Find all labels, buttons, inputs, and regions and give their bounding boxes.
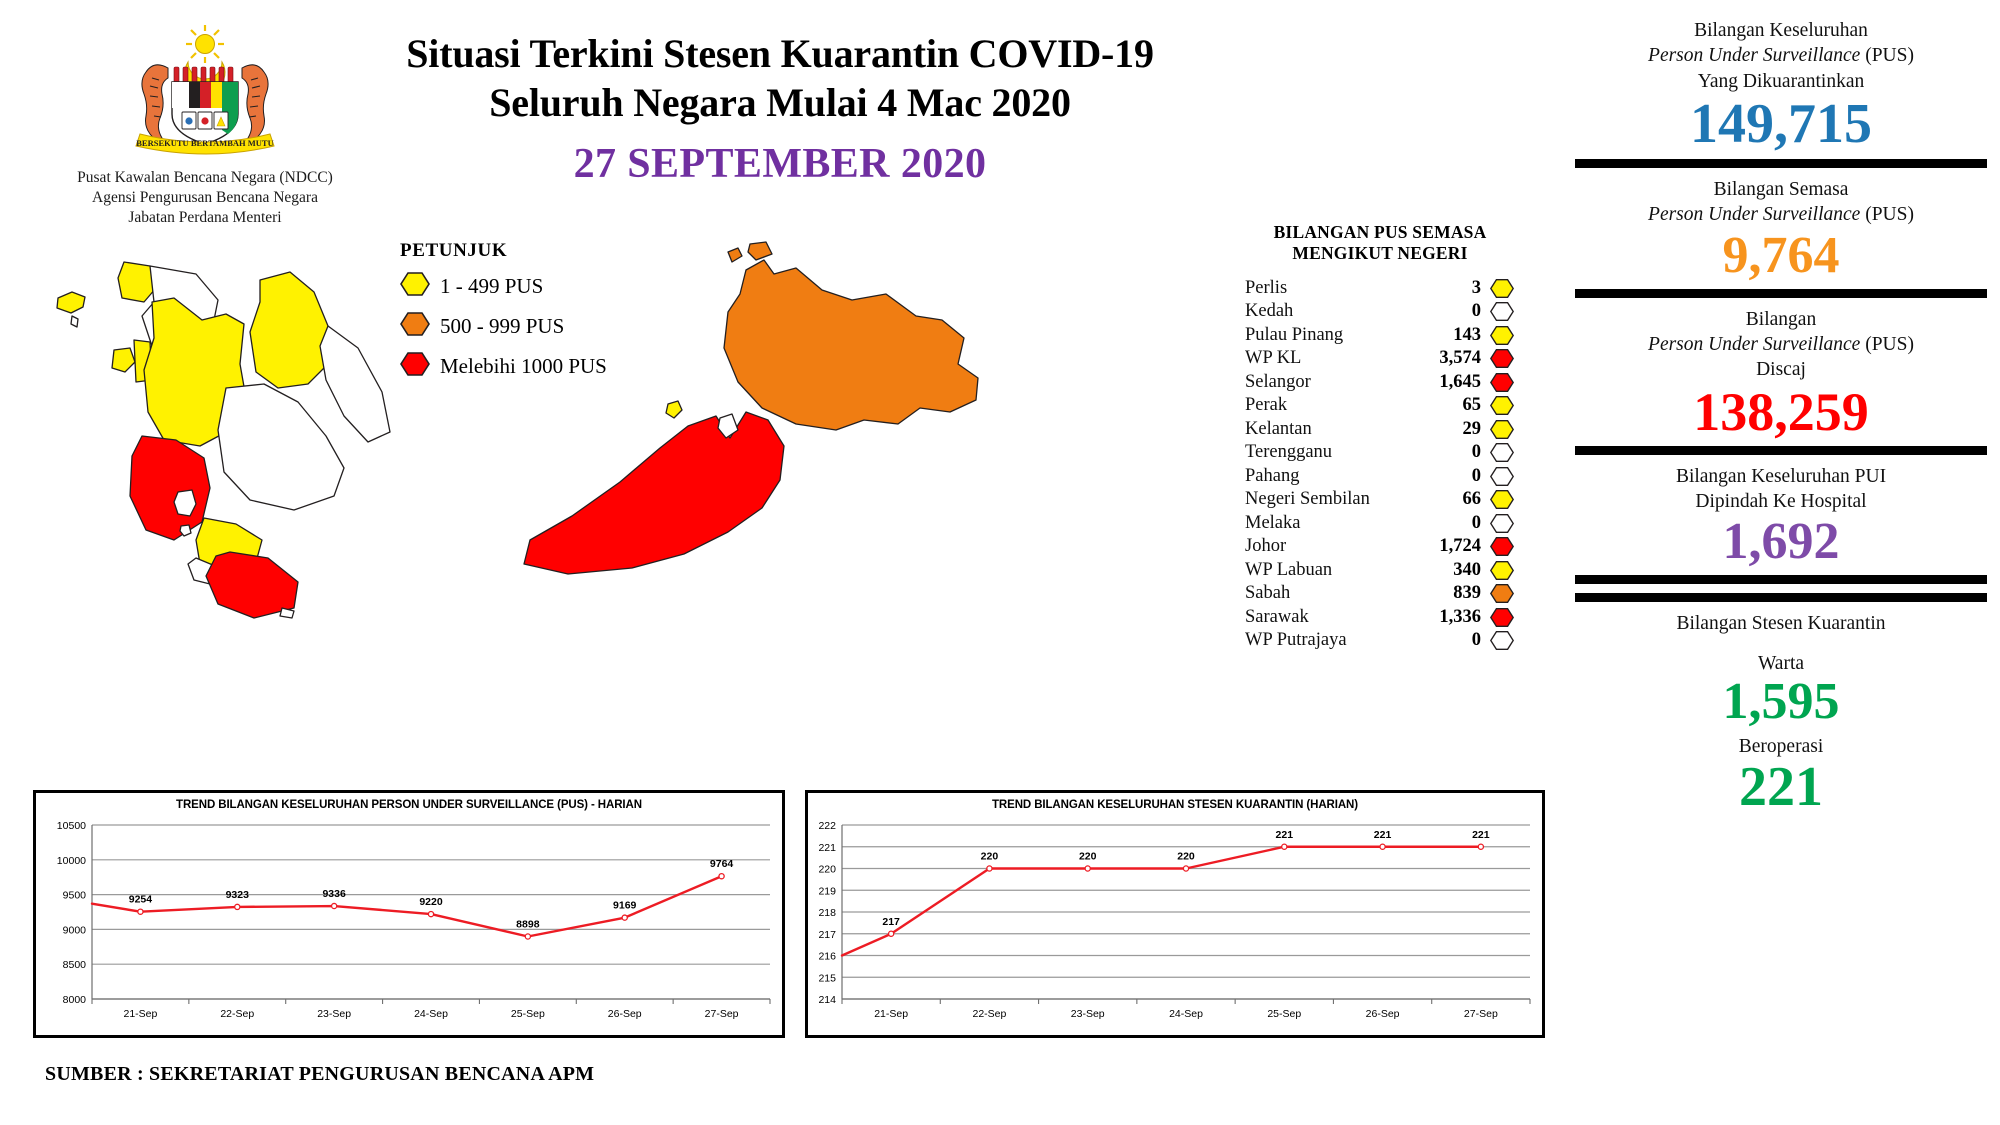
state-name: Negeri Sembilan — [1245, 489, 1415, 510]
agency-logo-block: BERSEKUTU BERTAMBAH MUTU Pusat Kawalan B… — [55, 22, 355, 227]
legend-label-low: 1 - 499 PUS — [440, 274, 543, 299]
state-name: Selangor — [1245, 372, 1415, 393]
map-region-sarawak — [524, 412, 784, 574]
data-point-label: 9336 — [322, 888, 346, 900]
state-row: Negeri Sembilan66 — [1245, 488, 1515, 512]
state-value: 0 — [1415, 466, 1489, 487]
y-axis-tick-label: 215 — [818, 972, 836, 984]
stat-label-line1: Bilangan Keseluruhan PUI — [1575, 464, 1987, 489]
chart-left-title: TREND BILANGAN KESELURUHAN PERSON UNDER … — [36, 793, 782, 811]
data-point-marker — [622, 915, 627, 920]
chart-pus-harian: TREND BILANGAN KESELURUHAN PERSON UNDER … — [33, 790, 785, 1038]
state-value: 1,724 — [1415, 536, 1489, 557]
legend-label-high: Melebihi 1000 PUS — [440, 354, 607, 379]
data-point-marker — [1085, 866, 1090, 871]
y-axis-tick-label: 220 — [818, 864, 836, 876]
infographic-page: BERSEKUTU BERTAMBAH MUTU Pusat Kawalan B… — [0, 0, 2000, 1125]
stat-label-line1: Bilangan Semasa — [1575, 177, 1987, 202]
state-value: 3 — [1415, 278, 1489, 299]
summary-stats-panel: Bilangan KeseluruhanPerson Under Surveil… — [1575, 18, 1987, 815]
state-row: Kedah0 — [1245, 300, 1515, 324]
data-point-marker — [719, 874, 724, 879]
map-region-sabah-island-2 — [748, 242, 772, 260]
x-axis-tick-label: 22-Sep — [972, 1008, 1006, 1020]
page-title: Situasi Terkini Stesen Kuarantin COVID-1… — [330, 30, 1230, 188]
state-value: 0 — [1415, 301, 1489, 322]
data-point-marker — [428, 911, 433, 916]
state-value: 3,574 — [1415, 348, 1489, 369]
chart-right-title: TREND BILANGAN KESELURUHAN STESEN KUARAN… — [808, 793, 1542, 811]
state-name: Johor — [1245, 536, 1415, 557]
x-axis-tick-label: 24-Sep — [414, 1008, 448, 1020]
state-value: 0 — [1415, 442, 1489, 463]
x-axis-tick-label: 27-Sep — [705, 1008, 739, 1020]
stations-title: Bilangan Stesen Kuarantin — [1575, 611, 1987, 636]
hexagon-icon-status — [1489, 630, 1515, 651]
title-line-1: Situasi Terkini Stesen Kuarantin COVID-1… — [330, 30, 1230, 79]
x-axis-tick-label: 24-Sep — [1169, 1008, 1203, 1020]
map-region-terengganu — [320, 326, 390, 442]
state-row: Johor1,724 — [1245, 535, 1515, 559]
svg-text:BERSEKUTU BERTAMBAH MUTU: BERSEKUTU BERTAMBAH MUTU — [136, 138, 273, 148]
map-region-langkawi — [57, 292, 85, 313]
state-name: WP KL — [1245, 348, 1415, 369]
map-region-sabah — [724, 260, 978, 430]
x-axis-tick-label: 25-Sep — [1267, 1008, 1301, 1020]
hexagon-icon-status — [1489, 466, 1515, 487]
state-name: Kedah — [1245, 301, 1415, 322]
legend-title: PETUNJUK — [400, 240, 700, 262]
state-value: 0 — [1415, 630, 1489, 651]
state-row: WP Labuan340 — [1245, 559, 1515, 583]
malaysia-coat-of-arms-icon: BERSEKUTU BERTAMBAH MUTU — [110, 22, 300, 162]
hexagon-icon-status — [1489, 560, 1515, 581]
y-axis-tick-label: 10500 — [57, 820, 86, 832]
y-axis-tick-label: 218 — [818, 907, 836, 919]
legend-item-high: Melebihi 1000 PUS — [400, 351, 700, 382]
hexagon-icon-status — [1489, 348, 1515, 369]
hexagon-icon-status — [1489, 301, 1515, 322]
stat-value: 1,692 — [1575, 516, 1987, 568]
agency-caption-line1: Pusat Kawalan Bencana Negara (NDCC) — [55, 168, 355, 188]
map-legend: PETUNJUK 1 - 499 PUS 500 - 999 PUS Meleb… — [400, 240, 700, 391]
state-name: Perlis — [1245, 278, 1415, 299]
map-region-pahang — [218, 384, 344, 510]
state-value: 0 — [1415, 513, 1489, 534]
stat-divider — [1575, 159, 1987, 168]
agency-caption: Pusat Kawalan Bencana Negara (NDCC) Agen… — [55, 168, 355, 227]
state-name: Melaka — [1245, 513, 1415, 534]
state-value: 66 — [1415, 489, 1489, 510]
y-axis-tick-label: 10000 — [57, 855, 86, 867]
hexagon-icon-status — [1489, 395, 1515, 416]
chart-stesen-harian: TREND BILANGAN KESELURUHAN STESEN KUARAN… — [805, 790, 1545, 1038]
stat-block: Bilangan Keseluruhan PUIDipindah Ke Hosp… — [1575, 464, 1987, 569]
series-line — [842, 847, 1481, 956]
state-value: 340 — [1415, 560, 1489, 581]
hexagon-icon-status — [1489, 489, 1515, 510]
y-axis-tick-label: 222 — [818, 820, 836, 832]
legend-label-mid: 500 - 999 PUS — [440, 314, 564, 339]
hexagon-icon-yellow — [400, 271, 430, 302]
hexagon-icon-red — [400, 351, 430, 382]
x-axis-tick-label: 26-Sep — [1366, 1008, 1400, 1020]
stat-stations: Bilangan Stesen Kuarantin Warta 1,595 Be… — [1575, 611, 1987, 815]
data-point-label: 220 — [1177, 851, 1195, 863]
data-point-label: 221 — [1276, 829, 1294, 841]
data-point-label: 9220 — [419, 896, 443, 908]
data-point-marker — [525, 934, 530, 939]
data-point-label: 9169 — [613, 900, 637, 912]
x-axis-tick-label: 27-Sep — [1464, 1008, 1498, 1020]
data-point-marker — [1183, 866, 1188, 871]
hexagon-icon-status — [1489, 583, 1515, 604]
state-row: WP Putrajaya0 — [1245, 629, 1515, 653]
y-axis-tick-label: 8500 — [63, 959, 87, 971]
state-breakdown-panel: BILANGAN PUS SEMASA MENGIKUT NEGERI Perl… — [1245, 222, 1515, 653]
state-row: Pulau Pinang143 — [1245, 324, 1515, 348]
stat-label: Bilangan SemasaPerson Under Surveillance… — [1575, 177, 1987, 228]
hexagon-icon-status — [1489, 325, 1515, 346]
hexagon-icon-status — [1489, 513, 1515, 534]
stat-divider — [1575, 593, 1987, 602]
title-line-2: Seluruh Negara Mulai 4 Mac 2020 — [330, 79, 1230, 128]
hexagon-icon-status — [1489, 372, 1515, 393]
state-row: Pahang0 — [1245, 465, 1515, 489]
state-name: Sarawak — [1245, 607, 1415, 628]
state-value: 29 — [1415, 419, 1489, 440]
state-row: Terengganu0 — [1245, 441, 1515, 465]
y-axis-tick-label: 217 — [818, 929, 836, 941]
data-point-label: 9254 — [129, 894, 153, 906]
x-axis-tick-label: 21-Sep — [123, 1008, 157, 1020]
state-table: Perlis3Kedah0Pulau Pinang143WP KL3,574Se… — [1245, 277, 1515, 653]
stat-label-line2: Person Under Surveillance (PUS) — [1575, 332, 1987, 357]
data-point-marker — [1282, 844, 1287, 849]
state-name: Perak — [1245, 395, 1415, 416]
hexagon-icon-status — [1489, 419, 1515, 440]
stat-label-line1: Bilangan — [1575, 307, 1987, 332]
state-value: 1,645 — [1415, 372, 1489, 393]
agency-caption-line2: Agensi Pengurusan Bencana Negara — [55, 188, 355, 208]
data-point-label: 221 — [1472, 829, 1490, 841]
stat-value: 9,764 — [1575, 230, 1987, 282]
state-panel-title: BILANGAN PUS SEMASA MENGIKUT NEGERI — [1245, 222, 1515, 265]
data-point-label: 220 — [1079, 851, 1097, 863]
state-name: Pahang — [1245, 466, 1415, 487]
state-panel-title-line1: BILANGAN PUS SEMASA — [1245, 222, 1515, 243]
data-point-label: 217 — [882, 916, 900, 928]
state-name: Terengganu — [1245, 442, 1415, 463]
data-point-marker — [889, 931, 894, 936]
stat-label: Bilangan KeseluruhanPerson Under Surveil… — [1575, 18, 1987, 94]
data-point-marker — [332, 903, 337, 908]
state-value: 1,336 — [1415, 607, 1489, 628]
map-region-penang-island — [112, 348, 135, 372]
map-region-sabah-island-1 — [728, 248, 742, 262]
agency-caption-line3: Jabatan Perdana Menteri — [55, 208, 355, 228]
report-date: 27 SEPTEMBER 2020 — [330, 140, 1230, 188]
state-row: Sabah839 — [1245, 582, 1515, 606]
data-point-label: 8898 — [516, 918, 540, 930]
y-axis-tick-label: 9000 — [63, 924, 87, 936]
y-axis-tick-label: 221 — [818, 842, 836, 854]
state-row: Perak65 — [1245, 394, 1515, 418]
source-footer: SUMBER : SEKRETARIAT PENGURUSAN BENCANA … — [45, 1063, 594, 1086]
map-region-kelantan — [250, 272, 328, 388]
x-axis-tick-label: 23-Sep — [1071, 1008, 1105, 1020]
hexagon-icon-orange — [400, 311, 430, 342]
data-point-label: 9764 — [710, 858, 734, 870]
stat-value: 138,259 — [1575, 385, 1987, 439]
state-row: Kelantan29 — [1245, 418, 1515, 442]
data-point-label: 221 — [1374, 829, 1392, 841]
y-axis-tick-label: 216 — [818, 951, 836, 963]
stat-label-line2: Person Under Surveillance (PUS) — [1575, 43, 1987, 68]
stat-label: BilanganPerson Under Surveillance (PUS)D… — [1575, 307, 1987, 383]
state-row: WP KL3,574 — [1245, 347, 1515, 371]
stat-label-line1: Bilangan Keseluruhan — [1575, 18, 1987, 43]
data-point-label: 9323 — [226, 889, 250, 901]
hexagon-icon-status — [1489, 278, 1515, 299]
stat-block: Bilangan KeseluruhanPerson Under Surveil… — [1575, 18, 1987, 152]
state-name: WP Putrajaya — [1245, 630, 1415, 651]
stat-label-line2: Person Under Surveillance (PUS) — [1575, 202, 1987, 227]
x-axis-tick-label: 22-Sep — [220, 1008, 254, 1020]
x-axis-tick-label: 25-Sep — [511, 1008, 545, 1020]
x-axis-tick-label: 23-Sep — [317, 1008, 351, 1020]
hexagon-icon-status — [1489, 536, 1515, 557]
state-name: WP Labuan — [1245, 560, 1415, 581]
state-row: Sarawak1,336 — [1245, 606, 1515, 630]
map-region-wp-labuan — [666, 401, 682, 418]
state-value: 65 — [1415, 395, 1489, 416]
stat-label-line3: Yang Dikuarantinkan — [1575, 69, 1987, 94]
state-name: Pulau Pinang — [1245, 325, 1415, 346]
stat-label-line3: Discaj — [1575, 357, 1987, 382]
data-point-marker — [235, 904, 240, 909]
y-axis-tick-label: 9500 — [63, 890, 87, 902]
stations-warta-value: 1,595 — [1575, 676, 1987, 728]
data-point-marker — [1380, 844, 1385, 849]
state-row: Selangor1,645 — [1245, 371, 1515, 395]
state-name: Sabah — [1245, 583, 1415, 604]
y-axis-tick-label: 219 — [818, 885, 836, 897]
stat-label: Bilangan Keseluruhan PUIDipindah Ke Hosp… — [1575, 464, 1987, 515]
stat-divider — [1575, 446, 1987, 455]
data-point-marker — [1478, 844, 1483, 849]
hexagon-icon-status — [1489, 442, 1515, 463]
y-axis-tick-label: 8000 — [63, 994, 87, 1006]
stat-label-line3: Dipindah Ke Hospital — [1575, 489, 1987, 514]
stations-beroperasi-value: 221 — [1575, 759, 1987, 815]
data-point-label: 220 — [981, 851, 999, 863]
state-row: Perlis3 — [1245, 277, 1515, 301]
stat-value: 149,715 — [1575, 96, 1987, 152]
state-value: 143 — [1415, 325, 1489, 346]
stat-blocks: Bilangan KeseluruhanPerson Under Surveil… — [1575, 18, 1987, 584]
data-point-marker — [138, 909, 143, 914]
data-point-marker — [987, 866, 992, 871]
stat-divider — [1575, 289, 1987, 298]
stat-block: Bilangan SemasaPerson Under Surveillance… — [1575, 177, 1987, 282]
stat-block: BilanganPerson Under Surveillance (PUS)D… — [1575, 307, 1987, 439]
x-axis-tick-label: 26-Sep — [608, 1008, 642, 1020]
map-region-selangor — [130, 436, 210, 540]
state-panel-title-line2: MENGIKUT NEGERI — [1245, 243, 1515, 264]
x-axis-tick-label: 21-Sep — [874, 1008, 908, 1020]
y-axis-tick-label: 214 — [818, 994, 836, 1006]
legend-item-mid: 500 - 999 PUS — [400, 311, 700, 342]
state-name: Kelantan — [1245, 419, 1415, 440]
stat-divider — [1575, 575, 1987, 584]
legend-item-low: 1 - 499 PUS — [400, 271, 700, 302]
state-value: 839 — [1415, 583, 1489, 604]
hexagon-icon-status — [1489, 607, 1515, 628]
state-row: Melaka0 — [1245, 512, 1515, 536]
